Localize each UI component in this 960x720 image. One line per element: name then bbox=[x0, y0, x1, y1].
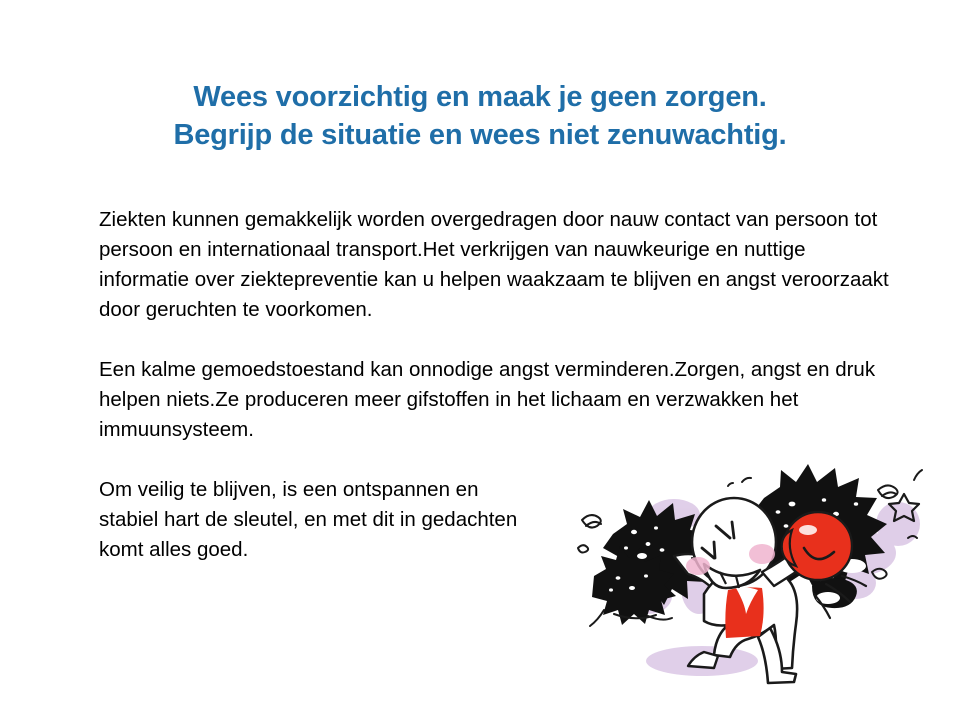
slide-title: Wees voorzichtig en maak je geen zorgen.… bbox=[0, 78, 960, 154]
body-paragraph-2: Een kalme gemoedstoestand kan onnodige a… bbox=[99, 355, 889, 445]
cartoon-illustration bbox=[556, 438, 960, 704]
title-line-2: Begrijp de situatie en wees niet zenuwac… bbox=[0, 116, 960, 154]
slide-canvas: Wees voorzichtig en maak je geen zorgen.… bbox=[0, 0, 960, 720]
body-paragraph-1: Ziekten kunnen gemakkelijk worden overge… bbox=[99, 205, 889, 325]
boxing-glove bbox=[782, 512, 852, 580]
body-paragraph-3: Om veilig te blijven, is een ontspannen … bbox=[99, 475, 529, 565]
title-line-1: Wees voorzichtig en maak je geen zorgen. bbox=[0, 78, 960, 116]
